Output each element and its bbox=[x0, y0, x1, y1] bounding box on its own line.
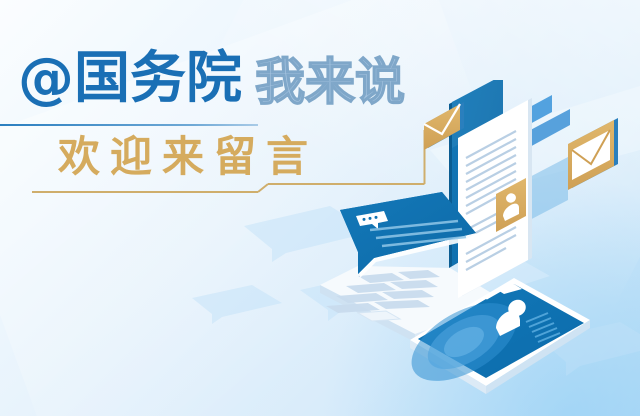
page-title: @国务院 bbox=[18, 48, 242, 110]
illustration bbox=[300, 80, 640, 416]
page-tagline: 欢迎来留言 bbox=[58, 132, 318, 182]
banner-root: @国务院 我来说 欢迎来留言 bbox=[0, 0, 640, 416]
envelope-right bbox=[568, 118, 618, 190]
bg-bubble-2 bbox=[192, 285, 282, 324]
